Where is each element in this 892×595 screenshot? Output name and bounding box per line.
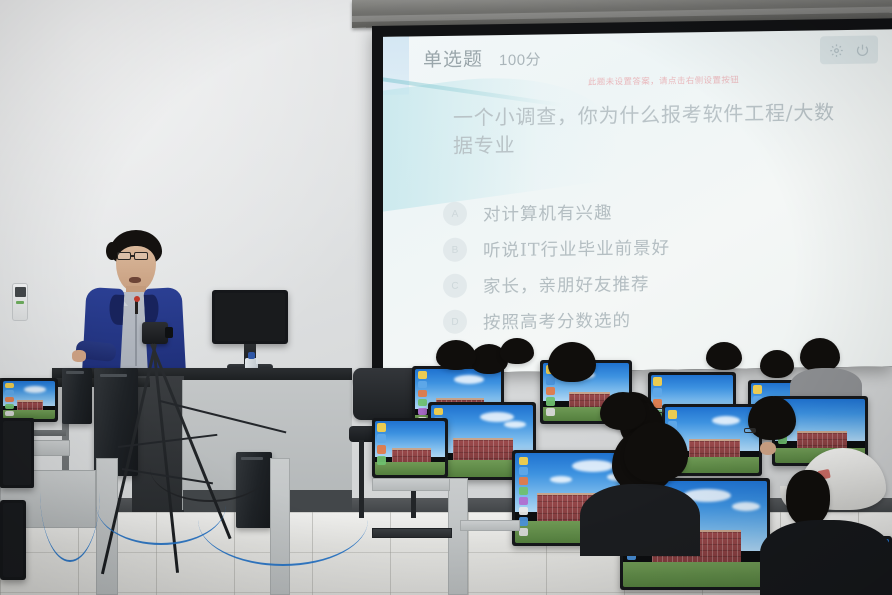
desktop-icon[interactable] [5,383,14,388]
student-head [706,342,742,370]
desktop-icon[interactable] [519,507,528,515]
student-shoulders [760,520,892,595]
option-badge: D [443,310,467,334]
monitor-screen-side [3,503,23,577]
question-stem: 一个小调查，你为什么报考软件工程/大数据专业 [453,98,853,161]
gear-icon[interactable] [826,40,846,60]
monitor-bezel [3,381,55,419]
option-badge: C [443,274,467,298]
desktop-icon[interactable] [653,388,662,397]
chair-leg [359,440,364,518]
monitor-bezel [3,421,31,485]
eyeglasses-left-lens [117,252,131,260]
wallpaper-cloud [454,375,484,384]
student-head [760,350,794,378]
student-head [600,392,646,430]
desk-divider-rail [460,520,520,531]
student-shoulders [580,484,700,556]
desktop-icons[interactable] [5,383,13,416]
projection-screen-frame: 单选题 100分 此题未设置答案，请点击右侧设置按钮 [372,18,892,374]
monitor-bezel [3,503,23,577]
monitor-screen [375,421,445,475]
question-type-label: 单选题 [423,44,483,72]
desktop-icon[interactable] [546,376,555,385]
monitor-screen-side [3,421,31,485]
desktop-icon[interactable] [418,390,427,397]
desktop-icon[interactable] [5,390,14,395]
option-label: 按照高考分数选的 [483,307,631,334]
student-monitor [0,378,58,422]
desktop-icon[interactable] [546,397,555,406]
student-head [436,340,476,370]
desktop-icon[interactable] [519,457,528,465]
student-head [748,396,796,440]
question-options-list: A 对计算机有兴趣 B 听说IT行业毕业前景好 C 家长，亲朋好友推荐 D 按照… [443,190,873,340]
desktop-icon[interactable] [377,434,386,443]
student-head [500,338,534,364]
desktop-icon[interactable] [753,385,762,394]
desktop-icon[interactable] [519,487,528,495]
student-monitor [372,418,448,478]
desktop-icon[interactable] [519,467,528,475]
student-head [624,422,688,482]
student-eyeglasses [744,428,756,433]
option-label: 对计算机有兴趣 [483,199,613,226]
eyeglasses-right-lens [134,252,148,260]
desktop-icon[interactable] [418,408,427,415]
desk-divider-rail [372,478,450,491]
option-badge: A [443,202,467,226]
desktop-icon[interactable] [377,445,386,454]
monitor-bezel [375,421,445,475]
option-label: 家长，亲朋好友推荐 [483,270,650,297]
monitor-screen-off [215,293,285,341]
desk-divider-rail [372,528,452,538]
slide-header: 单选题 100分 [423,43,541,72]
clip-microphone-icon [135,300,138,314]
student-head [548,342,596,382]
desktop-icon[interactable] [519,497,528,505]
desktop-icons[interactable] [377,423,388,471]
answer-not-set-warning: 此题未设置答案，请点击右侧设置按钮 [409,71,892,91]
desktop-icon[interactable] [5,397,14,402]
student-head-under-cap [786,470,830,526]
desktop-icons[interactable] [519,457,539,536]
wallpaper-cloud [24,386,46,393]
desktop-icon[interactable] [668,410,677,419]
desktop-icon[interactable] [377,456,386,465]
desktop-icon[interactable] [418,371,427,378]
desktop-icon[interactable] [5,404,14,409]
desktop-icon[interactable] [546,408,555,417]
instructor-mouth [129,277,141,283]
desktop-icon[interactable] [519,528,528,536]
slide-toolbar[interactable] [820,35,878,64]
classroom-scene: 单选题 100分 此题未设置答案，请点击右侧设置按钮 [0,0,892,595]
slide-accent-bar [383,36,409,94]
instructor-hand-left [72,350,86,362]
camera-on-tripod [142,322,168,344]
desktop-icon[interactable] [546,387,555,396]
option-label: 听说IT行业毕业前景好 [483,234,670,262]
desktop-icon[interactable] [519,517,528,525]
desktop-icon[interactable] [519,477,528,485]
desktop-icon[interactable] [434,408,443,415]
question-score-label: 100分 [499,48,541,70]
power-icon[interactable] [852,40,872,60]
student-monitor-side [0,500,26,580]
desktop-pc-tower [62,368,92,424]
student-monitor-side [0,418,34,488]
eyeglasses-bridge [131,255,135,257]
lecturer-monitor [212,290,288,344]
monitor-screen [3,381,55,419]
student-hand [760,442,776,455]
monitor-bezel [215,293,285,341]
quiz-slide: 单选题 100分 此题未设置答案，请点击右侧设置按钮 [383,29,892,374]
desktop-icon[interactable] [418,381,427,388]
desktop-icon[interactable] [5,411,14,416]
option-row[interactable]: D 按照高考分数选的 [443,298,873,340]
desktop-icon[interactable] [418,399,427,406]
wallpaper-cloud [504,421,526,428]
desktop-icon[interactable] [377,423,386,432]
ac-remote-holder-icon [12,283,28,321]
student-head [800,338,840,372]
option-badge: B [443,238,467,262]
desktop-icon[interactable] [653,377,662,386]
